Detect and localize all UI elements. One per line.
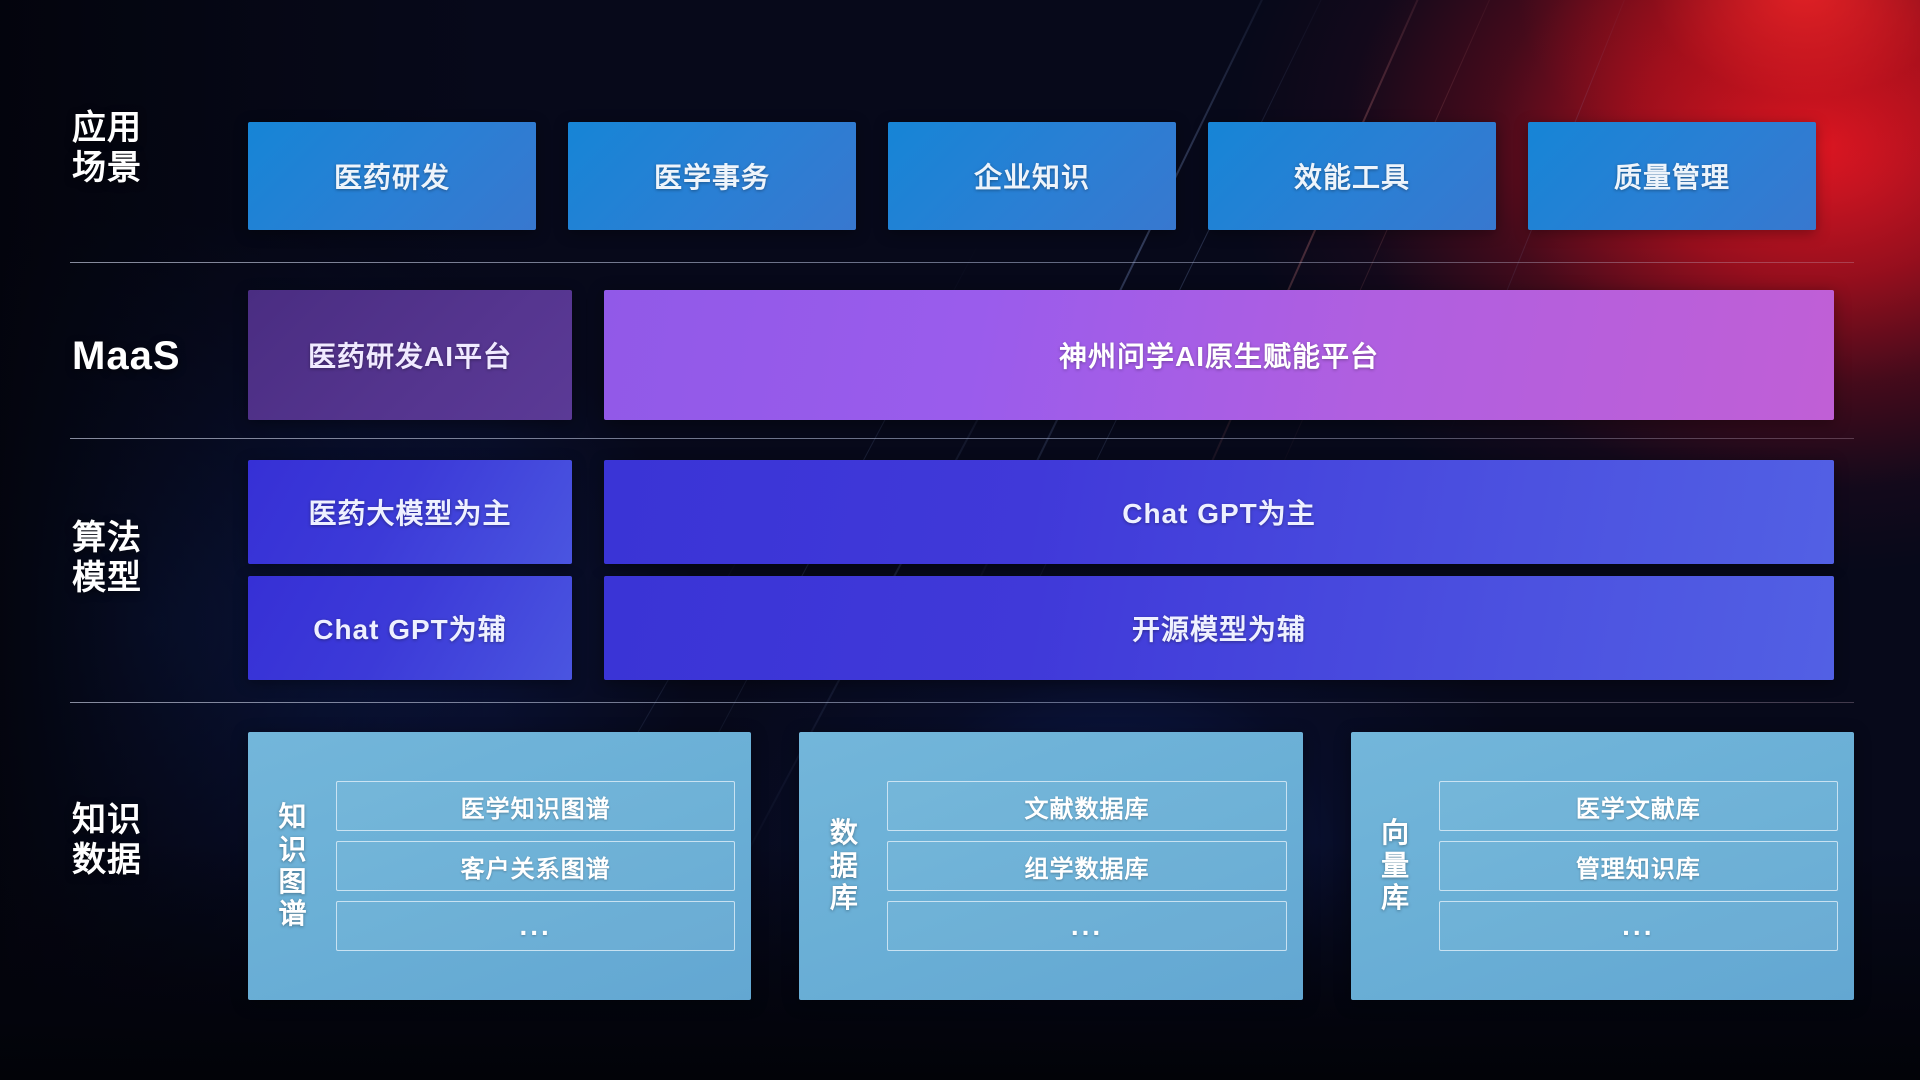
knowledge-group-vector-store: 向量库 医学文献库 管理知识库 ... [1351,732,1854,1000]
algorithm-box-pharma-llm-primary-label: 医药大模型为主 [308,492,511,532]
architecture-diagram: 应用 场景 医药研发 医学事务 企业知识 效能工具 质量管理 MaaS 医药研发… [0,0,1920,1080]
maas-box-shenzhou-wenxue-platform-label: 神州问学AI原生赋能平台 [1059,335,1379,375]
scenario-box-rd-label: 医药研发 [334,156,450,196]
knowledge-group-knowledge-graph-title: 知识图谱 [264,746,322,986]
scenario-box-efficiency-tools-label: 效能工具 [1294,156,1410,196]
scenario-row: 医药研发 医学事务 企业知识 效能工具 质量管理 [248,122,1854,230]
algorithm-box-chatgpt-secondary-label: Chat GPT为辅 [313,608,507,648]
knowledge-group-knowledge-graph: 知识图谱 医学知识图谱 客户关系图谱 ... [248,732,751,1000]
algorithm-box-chatgpt-primary[interactable]: Chat GPT为主 [604,460,1834,564]
knowledge-row: 知识图谱 医学知识图谱 客户关系图谱 ... 数据库 文献数据库 [248,732,1854,1000]
knowledge-item-literature-database[interactable]: 文献数据库 [887,781,1286,831]
row-label-maas: MaaS [72,333,202,380]
algorithm-row-primary: 医药大模型为主 Chat GPT为主 [248,460,1854,564]
divider-maas-algorithm [70,438,1854,439]
algorithm-row-secondary: Chat GPT为辅 开源模型为辅 [248,576,1854,680]
knowledge-item-omics-database[interactable]: 组学数据库 [887,841,1286,891]
knowledge-item-customer-relation-graph[interactable]: 客户关系图谱 [336,841,735,891]
knowledge-item-vector-store-more[interactable]: ... [1439,901,1838,951]
algorithm-box-opensource-secondary-label: 开源模型为辅 [1132,608,1306,648]
maas-box-pharma-ai-platform-label: 医药研发AI平台 [308,335,512,375]
scenario-box-medical-affairs-label: 医学事务 [654,156,770,196]
algorithm-box-chatgpt-primary-label: Chat GPT为主 [1122,492,1316,532]
knowledge-item-medical-literature-store-label: 医学文献库 [1576,789,1701,824]
knowledge-group-vector-store-title: 向量库 [1367,746,1425,986]
divider-scenario-maas [70,262,1854,263]
knowledge-item-medical-knowledge-graph[interactable]: 医学知识图谱 [336,781,735,831]
knowledge-item-medical-knowledge-graph-label: 医学知识图谱 [461,789,611,824]
knowledge-item-management-knowledge-store-label: 管理知识库 [1576,849,1701,884]
scenario-box-medical-affairs[interactable]: 医学事务 [568,122,856,230]
knowledge-item-vector-store-more-label: ... [1622,910,1654,942]
maas-row: 医药研发AI平台 神州问学AI原生赋能平台 [248,290,1854,420]
scenario-box-enterprise-knowledge-label: 企业知识 [974,156,1090,196]
scenario-box-quality-management[interactable]: 质量管理 [1528,122,1816,230]
scenario-box-quality-management-label: 质量管理 [1614,156,1730,196]
knowledge-group-knowledge-graph-items: 医学知识图谱 客户关系图谱 ... [336,746,735,986]
knowledge-group-database-title: 数据库 [815,746,873,986]
algorithm-box-chatgpt-secondary[interactable]: Chat GPT为辅 [248,576,572,680]
knowledge-item-omics-database-label: 组学数据库 [1024,849,1149,884]
knowledge-item-medical-literature-store[interactable]: 医学文献库 [1439,781,1838,831]
scenario-box-efficiency-tools[interactable]: 效能工具 [1208,122,1496,230]
scenario-box-rd[interactable]: 医药研发 [248,122,536,230]
row-label-algorithm: 算法 模型 [72,518,202,598]
maas-box-pharma-ai-platform[interactable]: 医药研发AI平台 [248,290,572,420]
divider-algorithm-knowledge [70,702,1854,703]
knowledge-item-customer-relation-graph-label: 客户关系图谱 [461,849,611,884]
row-label-scenario: 应用 场景 [72,108,202,188]
knowledge-item-literature-database-label: 文献数据库 [1024,789,1149,824]
knowledge-group-database: 数据库 文献数据库 组学数据库 ... [799,732,1302,1000]
knowledge-item-database-more-label: ... [1071,910,1103,942]
row-label-knowledge: 知识 数据 [72,800,202,880]
knowledge-item-management-knowledge-store[interactable]: 管理知识库 [1439,841,1838,891]
algorithm-box-pharma-llm-primary[interactable]: 医药大模型为主 [248,460,572,564]
maas-box-shenzhou-wenxue-platform[interactable]: 神州问学AI原生赋能平台 [604,290,1834,420]
knowledge-item-database-more[interactable]: ... [887,901,1286,951]
knowledge-group-database-items: 文献数据库 组学数据库 ... [887,746,1286,986]
knowledge-item-knowledge-graph-more[interactable]: ... [336,901,735,951]
knowledge-item-knowledge-graph-more-label: ... [519,910,551,942]
scenario-box-enterprise-knowledge[interactable]: 企业知识 [888,122,1176,230]
algorithm-box-opensource-secondary[interactable]: 开源模型为辅 [604,576,1834,680]
knowledge-group-vector-store-items: 医学文献库 管理知识库 ... [1439,746,1838,986]
